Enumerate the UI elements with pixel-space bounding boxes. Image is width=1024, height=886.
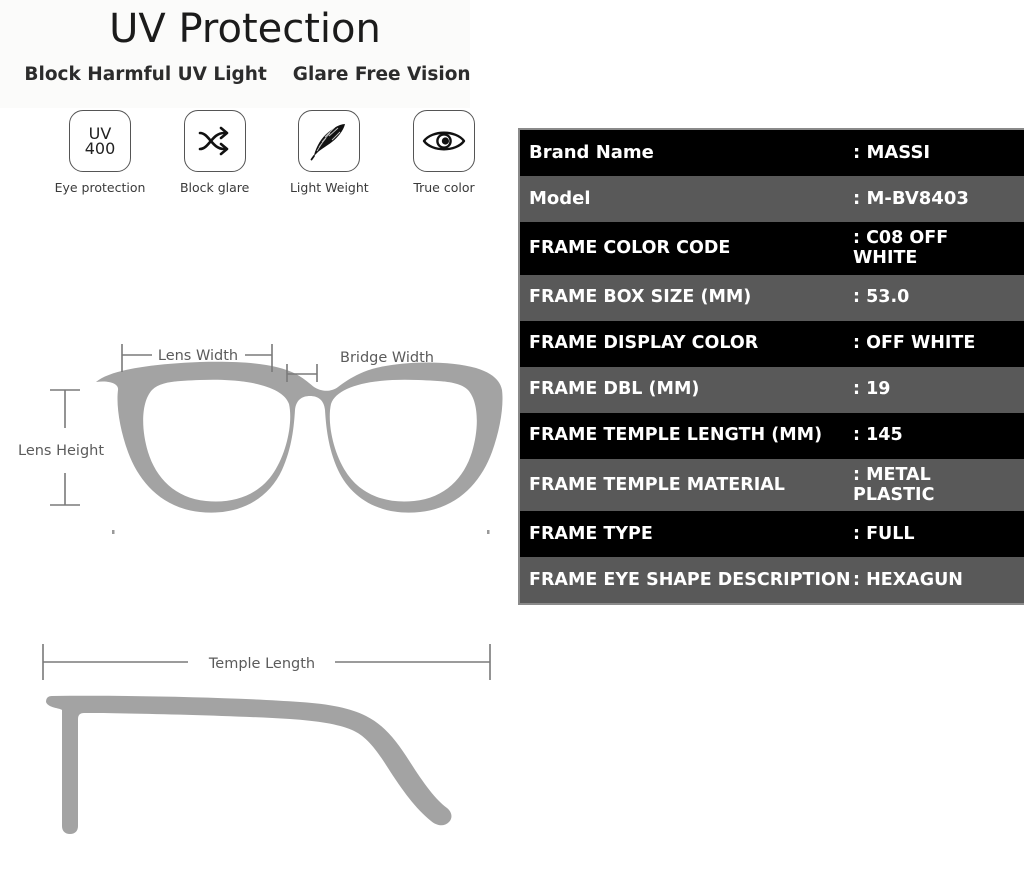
spec-value: : HEXAGUN <box>852 570 1024 590</box>
feature-icons-row: UV 400 Eye protection Block glare <box>52 110 492 195</box>
feature-label-eye-protection: Eye protection <box>55 180 146 195</box>
spec-value: : 19 <box>852 379 1024 399</box>
subtitle-row: Block Harmful UV Light Glare Free Vision <box>0 64 495 85</box>
table-row: FRAME DBL (MM) : 19 <box>520 367 1024 413</box>
glasses-temple-diagram: Temple Length <box>0 630 512 855</box>
spec-key: Model <box>520 189 852 210</box>
spec-value: : 53.0 <box>852 287 1024 307</box>
subtitle-block-uv: Block Harmful UV Light <box>24 64 266 85</box>
feature-label-light-weight: Light Weight <box>290 180 369 195</box>
table-row: FRAME COLOR CODE : C08 OFF WHITE <box>520 222 1024 275</box>
uv400-icon: UV 400 <box>69 110 131 172</box>
table-row: FRAME TYPE : FULL <box>520 511 1024 557</box>
spec-key: FRAME BOX SIZE (MM) <box>520 287 852 307</box>
feature-label-true-color: True color <box>413 180 474 195</box>
feature-light-weight: Light Weight <box>281 110 377 195</box>
uv400-badge-bottom: 400 <box>85 141 116 156</box>
spec-key: Brand Name <box>520 143 852 164</box>
page-title: UV Protection <box>0 6 490 52</box>
table-row: FRAME TEMPLE MATERIAL : METAL PLASTIC <box>520 459 1024 512</box>
spec-value: : OFF WHITE <box>852 333 1024 353</box>
table-row: FRAME TEMPLE LENGTH (MM) : 145 <box>520 413 1024 459</box>
subtitle-glare-free: Glare Free Vision <box>293 64 471 85</box>
table-row: FRAME EYE SHAPE DESCRIPTION : HEXAGUN <box>520 557 1024 603</box>
spec-key: FRAME EYE SHAPE DESCRIPTION <box>520 570 852 590</box>
feature-eye-protection: UV 400 Eye protection <box>52 110 148 195</box>
lens-width-label: Lens Width <box>158 348 238 364</box>
spec-value: : 145 <box>852 425 1024 445</box>
specification-table: Brand Name : MASSI Model : M-BV8403 FRAM… <box>518 128 1024 605</box>
spec-value: : MASSI <box>852 143 1024 164</box>
spec-value: : FULL <box>852 524 1024 544</box>
feather-icon <box>298 110 360 172</box>
spec-value: : METAL PLASTIC <box>852 465 1024 506</box>
table-row: FRAME BOX SIZE (MM) : 53.0 <box>520 275 1024 321</box>
spec-key: FRAME DISPLAY COLOR <box>520 333 852 353</box>
temple-length-label: Temple Length <box>208 656 315 672</box>
glasses-frame-shape <box>96 362 503 513</box>
spec-key: FRAME COLOR CODE <box>520 238 852 258</box>
spec-key: FRAME DBL (MM) <box>520 379 852 399</box>
product-info-panel: UV Protection Block Harmful UV Light Gla… <box>0 0 512 886</box>
spec-key: FRAME TEMPLE MATERIAL <box>520 475 852 495</box>
spec-key: FRAME TEMPLE LENGTH (MM) <box>520 425 852 445</box>
feature-true-color: True color <box>396 110 492 195</box>
feature-block-glare: Block glare <box>167 110 263 195</box>
table-row: Brand Name : MASSI <box>520 130 1024 176</box>
feature-label-block-glare: Block glare <box>180 180 249 195</box>
spec-value: : M-BV8403 <box>852 189 1024 210</box>
glasses-front-diagram: Lens Width Bridge Width Lens Height <box>0 330 512 560</box>
table-row: FRAME DISPLAY COLOR : OFF WHITE <box>520 321 1024 367</box>
bridge-width-label: Bridge Width <box>340 350 434 366</box>
spec-key: FRAME TYPE <box>520 524 852 544</box>
spec-value: : C08 OFF WHITE <box>852 228 1024 269</box>
eye-icon <box>413 110 475 172</box>
shuffle-arrows-icon <box>184 110 246 172</box>
table-row: Model : M-BV8403 <box>520 176 1024 222</box>
temple-arm-shape <box>46 696 451 834</box>
lens-height-label: Lens Height <box>18 443 104 459</box>
